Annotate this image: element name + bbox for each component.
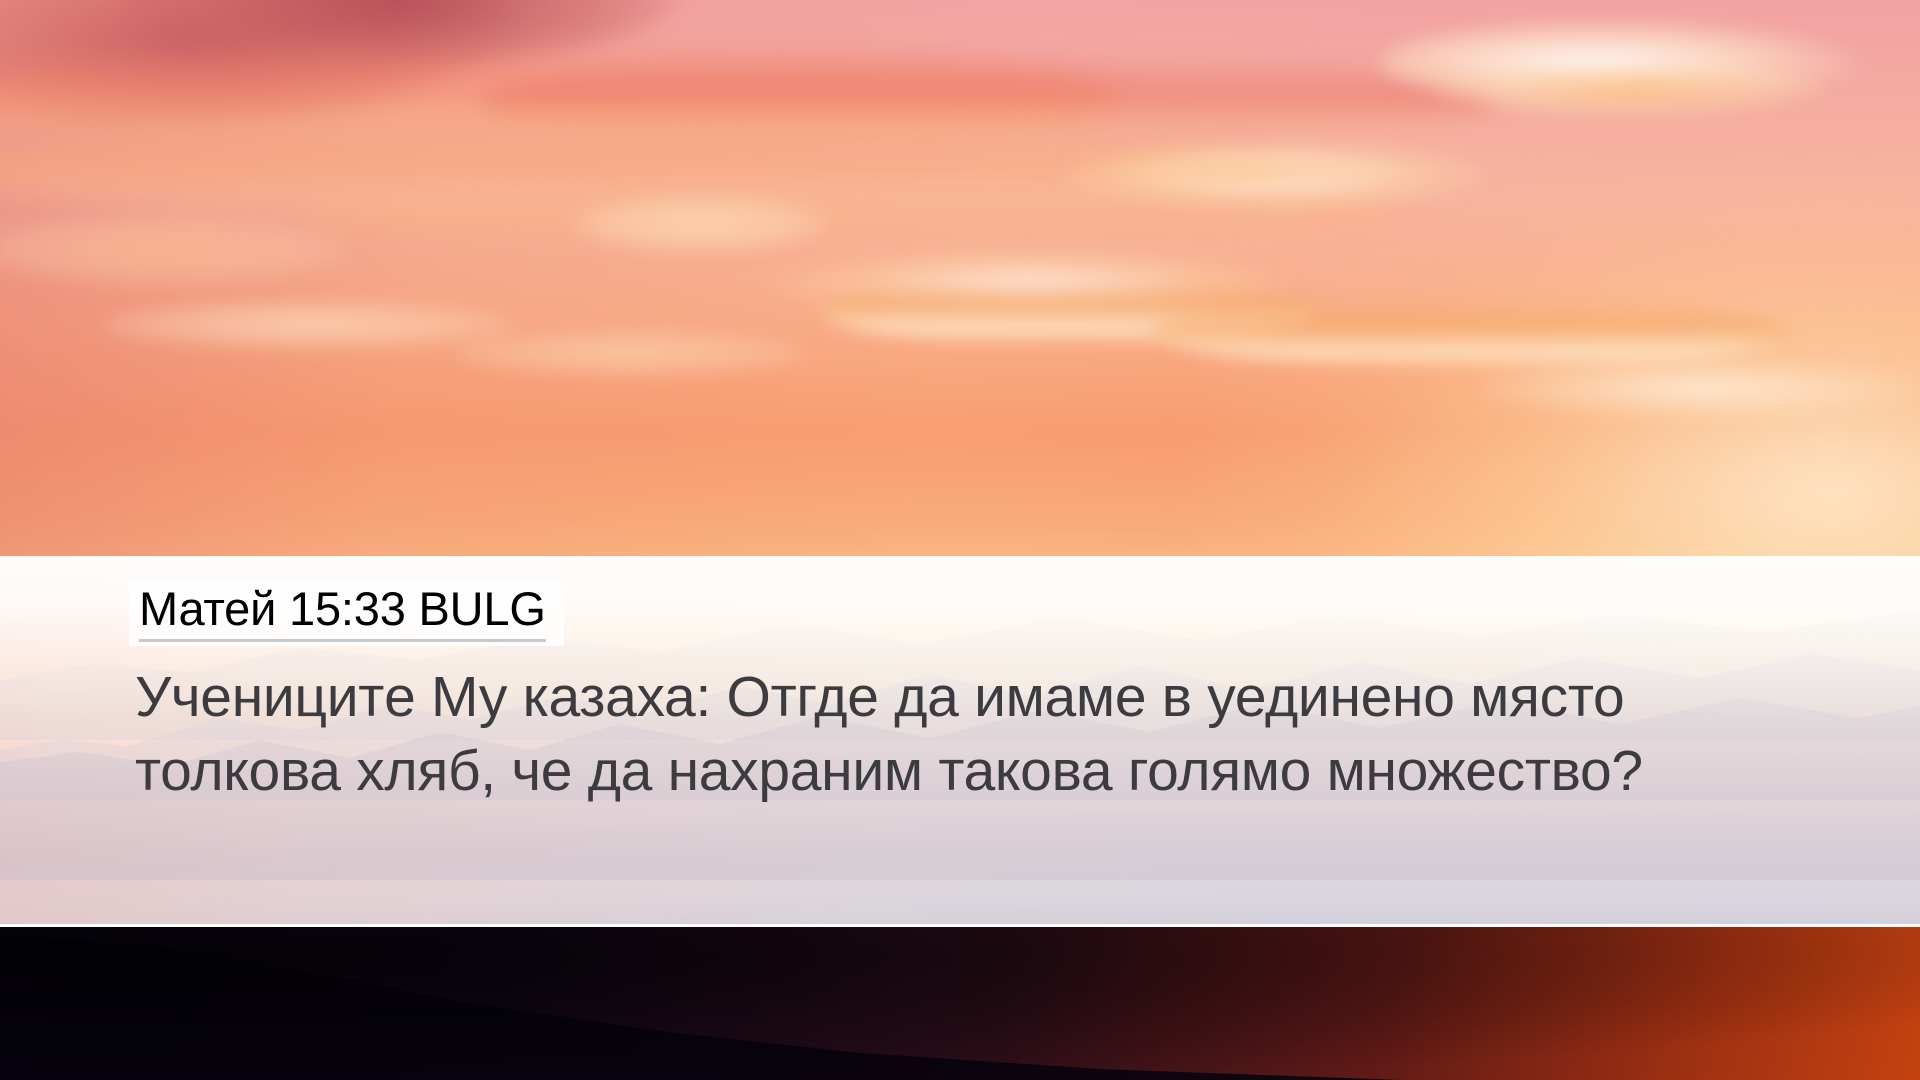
verse-reference[interactable]: Матей 15:33 BULG <box>139 584 546 642</box>
cloud-mid-6 <box>450 330 810 376</box>
cloud-mid-5 <box>100 300 520 350</box>
verse-text: Ученицитe Му казаха: Отгде да имаме в уе… <box>135 660 1800 809</box>
verse-reference-box: Матей 15:33 BULG <box>129 580 564 646</box>
foreground-vignette <box>0 927 1920 1080</box>
verse-overlay-content: Матей 15:33 BULG Ученицитe Му казаха: От… <box>0 556 1920 927</box>
cloud-wisp-right-4 <box>1110 152 1410 192</box>
verse-image-canvas: Матей 15:33 BULG Ученицитe Му казаха: От… <box>0 0 1920 1080</box>
cloud-wisp-right-2 <box>1430 60 1830 120</box>
cloud-low-2 <box>1480 360 1920 416</box>
cloud-mid-4 <box>1150 298 1790 368</box>
cloud-mid-1 <box>570 195 830 253</box>
